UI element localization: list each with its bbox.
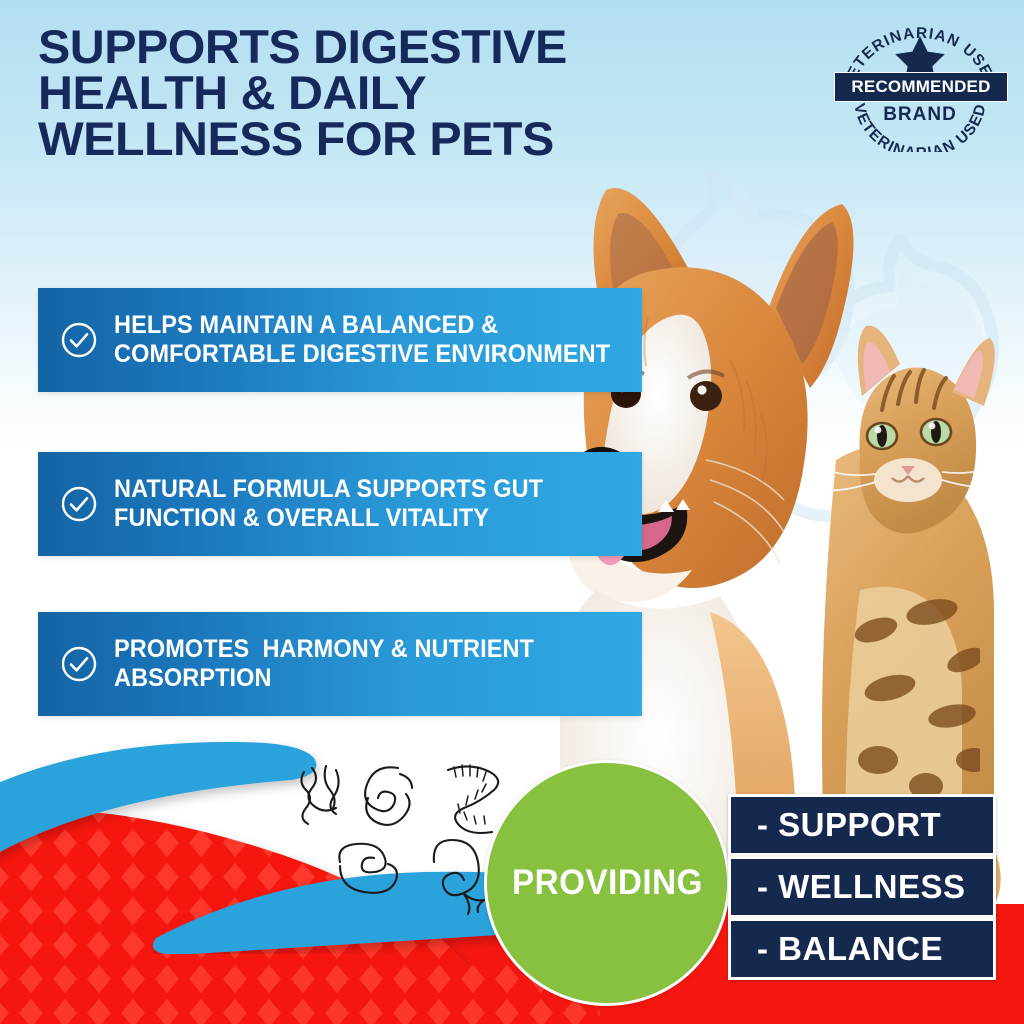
worm-icon: [434, 840, 484, 914]
circle-check-icon: [60, 485, 98, 523]
feature-label-bar: - BALANCE: [728, 918, 996, 980]
benefit-bar: PROMOTES HARMONY & NUTRIENT ABSORPTION: [38, 612, 642, 716]
benefit-text: HELPS MAINTAIN A BALANCED & COMFORTABLE …: [114, 311, 610, 369]
worm-icon: [301, 766, 338, 824]
benefit-text: PROMOTES HARMONY & NUTRIENT ABSORPTION: [114, 635, 534, 693]
promo-image: SUPPORTS DIGESTIVE HEALTH & DAILY WELLNE…: [0, 0, 1024, 1024]
feature-label-text: - BALANCE: [757, 930, 943, 968]
vet-recommended-badge: VETERINARIAN USED VETERINARIAN USED RECO…: [830, 20, 1010, 152]
worm-icon: [339, 844, 397, 893]
worm-icon: [448, 765, 498, 833]
circle-check-icon: [60, 321, 98, 359]
badge-recommended-bar: RECOMMENDED: [834, 72, 1008, 102]
circle-check-icon: [60, 645, 98, 683]
worm-icon: [365, 767, 412, 825]
feature-label-text: - WELLNESS: [757, 868, 966, 906]
badge-recommended-label: RECOMMENDED: [851, 77, 990, 97]
headline-line-3: WELLNESS FOR PETS: [38, 116, 677, 162]
providing-badge: PROVIDING: [484, 760, 730, 1006]
feature-label-bar: - WELLNESS: [728, 856, 996, 918]
feature-label-text: - SUPPORT: [757, 806, 941, 844]
benefit-bar: NATURAL FORMULA SUPPORTS GUT FUNCTION & …: [38, 452, 642, 556]
benefit-bar: HELPS MAINTAIN A BALANCED & COMFORTABLE …: [38, 288, 642, 392]
headline-line-2: HEALTH & DAILY: [38, 70, 677, 116]
providing-label: PROVIDING: [512, 863, 703, 903]
feature-label-bar: - SUPPORT: [728, 794, 996, 856]
page-title: SUPPORTS DIGESTIVE HEALTH & DAILY WELLNE…: [38, 24, 677, 162]
headline-line-1: SUPPORTS DIGESTIVE: [38, 24, 677, 70]
benefit-text: NATURAL FORMULA SUPPORTS GUT FUNCTION & …: [114, 475, 543, 533]
badge-brand-label: BRAND: [830, 104, 1010, 126]
